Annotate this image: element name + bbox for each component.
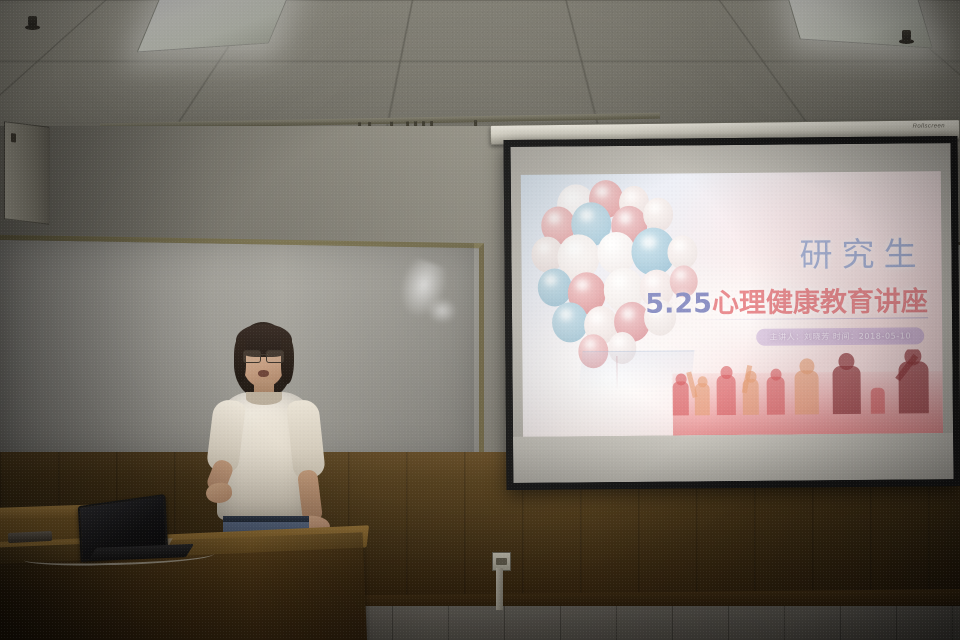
slide-subtitle-number: 5.25	[645, 288, 712, 320]
slide-subtitle-text: 心理健康教育讲座	[712, 286, 928, 319]
glasses-icon	[243, 350, 284, 361]
sprinkler-icon-right	[902, 30, 911, 44]
mouth	[258, 370, 269, 377]
wall-speaker-unit	[4, 121, 50, 225]
projection-screen[interactable]: 研究生 5.25心理健康教育讲座 主讲人：刘晓芳 时间：2018-05-10	[503, 136, 960, 490]
slide-title: 研究生	[799, 227, 925, 276]
wall-conduit	[496, 568, 503, 610]
slide-subtitle: 5.25心理健康教育讲座	[645, 279, 928, 320]
tshirt-collar	[246, 392, 282, 405]
screen-blank-area	[513, 433, 953, 483]
crowd-silhouette-graphic	[522, 349, 943, 437]
balloon-cluster-graphic	[527, 179, 729, 371]
sprinkler-icon-left	[28, 16, 37, 30]
tshirt-sleeve-right	[286, 399, 326, 480]
whiteboard-glare-secondary	[427, 297, 457, 324]
slide-meta-pill: 主讲人：刘晓芳 时间：2018-05-10	[756, 327, 924, 345]
projected-slide: 研究生 5.25心理健康教育讲座 主讲人：刘晓芳 时间：2018-05-10	[521, 171, 943, 437]
lecture-room-photo: Rollscreen	[0, 0, 960, 640]
screen-brand-label: Rollscreen	[913, 123, 945, 129]
belt	[223, 516, 309, 522]
